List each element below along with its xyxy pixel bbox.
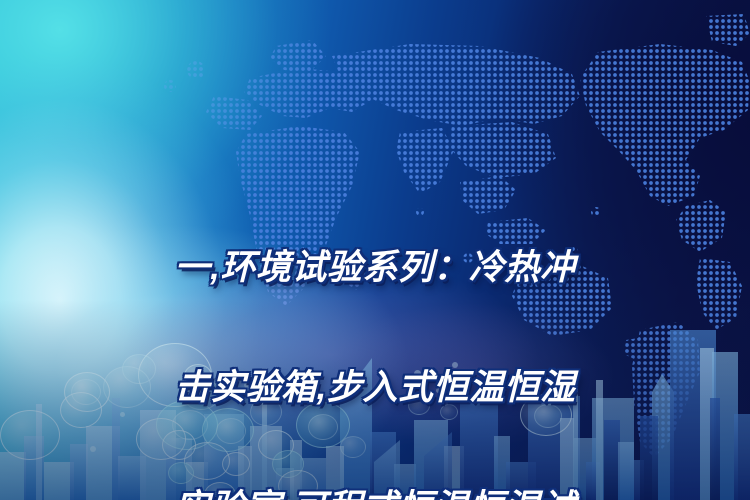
headline-line-2: 击实验箱,步入式恒温恒湿 [0, 368, 750, 408]
headline-line-1: 一,环境试验系列：冷热冲 [0, 248, 750, 288]
headline-line-3: 实验室,可程式恒温恒湿试 [0, 488, 750, 500]
headline-text: 一,环境试验系列：冷热冲 击实验箱,步入式恒温恒湿 实验室,可程式恒温恒湿试 验… [0, 168, 750, 500]
promo-banner: 一,环境试验系列：冷热冲 击实验箱,步入式恒温恒湿 实验室,可程式恒温恒湿试 验… [0, 0, 750, 500]
